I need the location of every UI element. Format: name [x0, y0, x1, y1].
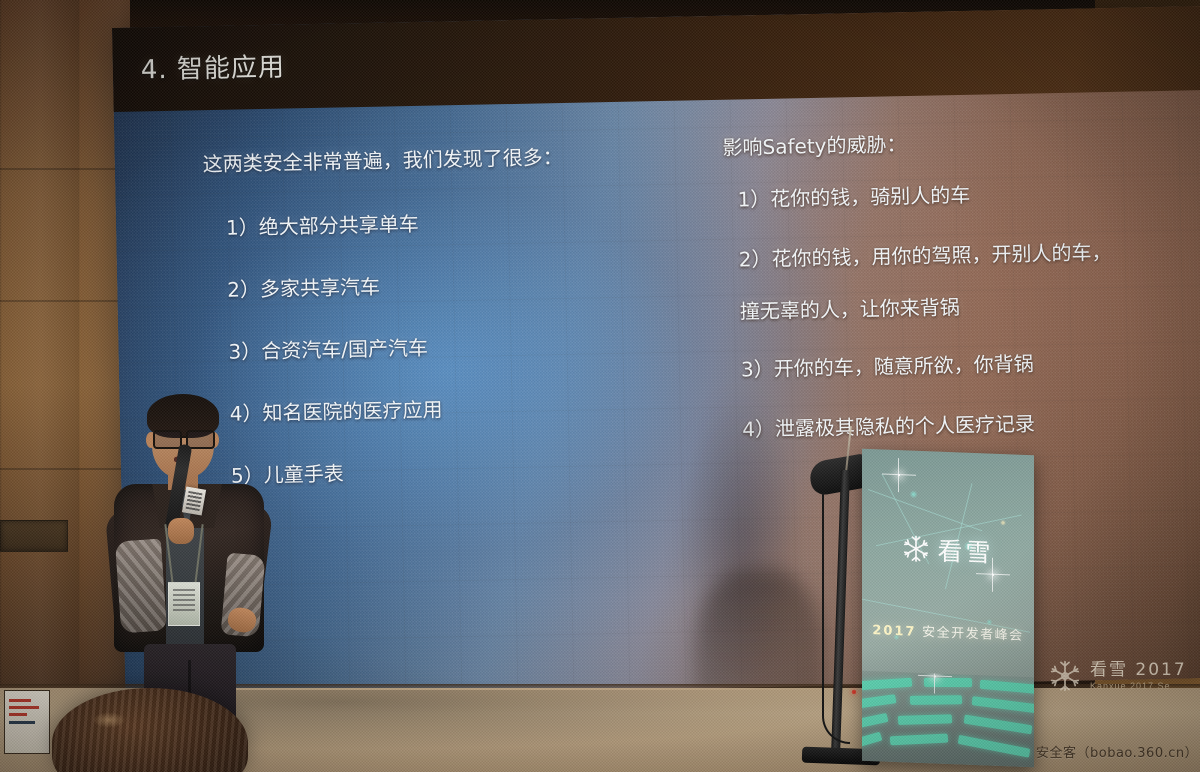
conference-photo-scene: 4. 智能应用 这两类安全非常普遍，我们发现了很多： 1）绝大部分共享单车 2）… — [0, 0, 1200, 772]
floor-poster — [4, 690, 50, 754]
wall-brand-name-en: Kanxue 2017 Se — [1090, 682, 1187, 691]
sparkle-icon — [898, 474, 900, 476]
watermark: 安全客（bobao.360.cn） — [1036, 742, 1198, 761]
speaker-hand-holding-mic — [168, 518, 194, 544]
status-led — [852, 690, 856, 694]
podium-year: 2017 — [872, 623, 916, 640]
name-badge — [168, 582, 200, 626]
podium-logo-text: 看雪 — [937, 532, 993, 570]
jacket-fur-panel-left — [115, 539, 167, 634]
glasses-icon — [152, 430, 214, 445]
podium-logo: 看雪 — [880, 527, 1016, 572]
wall-seam — [0, 168, 130, 170]
wall-brand-name-cn: 看雪 2017 — [1090, 662, 1187, 679]
podium-panel: 看雪 2017 安全开发者峰会 — [862, 449, 1034, 768]
wall-brand-text: 看雪 2017 Kanxue 2017 Se — [1090, 662, 1187, 691]
podium-subtitle: 2017 安全开发者峰会 — [862, 619, 1034, 645]
wall-seam — [0, 300, 130, 302]
wall-brand-logo: 看雪 2017 Kanxue 2017 Se — [1048, 652, 1200, 700]
snowflake-icon — [1048, 659, 1082, 693]
podium-road-graphic — [862, 671, 1034, 768]
hair-highlight — [92, 712, 126, 728]
sparkle-icon — [934, 675, 936, 677]
snowflake-icon — [902, 534, 930, 563]
mic-cable — [822, 492, 850, 744]
wall-plaque — [0, 520, 68, 552]
microphone-stand — [806, 452, 868, 768]
sparkle-icon — [992, 574, 994, 576]
podium-subtitle-text: 安全开发者峰会 — [922, 625, 1024, 644]
branded-podium: 看雪 2017 安全开发者峰会 — [862, 449, 1034, 768]
